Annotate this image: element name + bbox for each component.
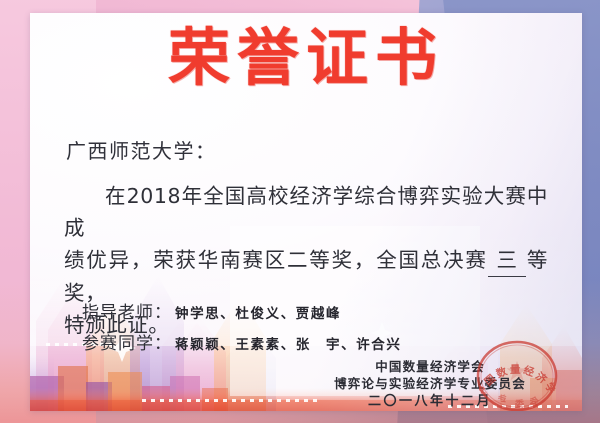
issue-date: 二〇一八年十二月 xyxy=(300,392,560,411)
participants-block: 指导老师： 钟学思、杜俊义、贾越峰 参赛同学： 蒋颖颖、王素素、张 宇、许合兴 xyxy=(82,298,402,360)
advisors-row: 指导老师： 钟学思、杜俊义、贾越峰 xyxy=(82,298,402,323)
students-row: 参赛同学： 蒋颖颖、王素素、张 宇、许合兴 xyxy=(82,329,402,354)
advisors-names: 钟学思、杜俊义、贾越峰 xyxy=(175,302,341,322)
body-line-1-text: 在2018年全国高校经济学综合博弈实验大赛中成 xyxy=(64,184,548,240)
issuer-committee: 博弈论与实验经济学专业委员会 xyxy=(300,375,560,392)
certificate-sheet: 荣誉证书 广西师范大学： 在2018年全国高校经济学综合博弈实验大赛中成 绩优异… xyxy=(30,13,582,411)
certificate-content: 荣誉证书 广西师范大学： 在2018年全国高校经济学综合博弈实验大赛中成 绩优异… xyxy=(30,13,582,411)
recipient-name: 广西师范大学： xyxy=(66,135,217,164)
award-rank-blank: 三 xyxy=(488,244,526,277)
students-label: 参赛同学： xyxy=(82,329,172,354)
certificate-title: 荣誉证书 xyxy=(30,27,582,89)
issuer-organization: 中国数量经济学会 xyxy=(300,358,560,375)
body-line-1: 在2018年全国高校经济学综合博弈实验大赛中成 xyxy=(64,180,548,244)
certificate-screenshot: 荣誉证书 广西师范大学： 在2018年全国高校经济学综合博弈实验大赛中成 绩优异… xyxy=(0,0,600,423)
issuer-signature-block: 中国数量经济学会 博弈论与实验经济学专业委员会 二〇一八年十二月 xyxy=(300,358,560,411)
body-line-2-prefix: 绩优异，荣获华南赛区二等奖，全国总决赛 xyxy=(64,248,488,272)
students-names: 蒋颖颖、王素素、张 宇、许合兴 xyxy=(175,333,402,353)
advisors-label: 指导老师： xyxy=(82,298,172,323)
